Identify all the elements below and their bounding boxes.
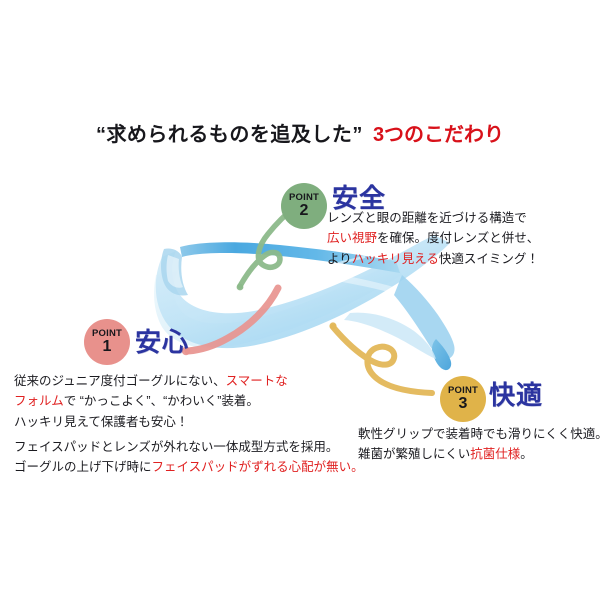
point-badge-2-number: 2 — [300, 203, 309, 219]
infographic-canvas: “求められるものを追及した”3つのこだわり — [0, 0, 600, 600]
point-badge-2-word: POINT — [289, 193, 319, 203]
title-accent-text: 3つのこだわり — [373, 124, 504, 146]
line-highlight: フェイスパッドがずれる心配が無い。 — [152, 460, 364, 474]
point-badge-1: POINT 1 — [84, 319, 130, 365]
point-body-1a: 従来のジュニア度付ゴーグルにない、スマートな フォルムで “かっこよく”、“かわ… — [14, 371, 288, 432]
point-badge-1-number: 1 — [103, 339, 112, 355]
title-quoted-text: “求められるものを追及した” — [96, 124, 363, 146]
point-badge-1-word: POINT — [92, 329, 122, 339]
page-title: “求められるものを追及した”3つのこだわり — [0, 118, 600, 147]
line: フェイスパッドとレンズが外れない一体成型方式を採用。 — [14, 440, 338, 454]
line: より — [327, 252, 352, 266]
line: 従来のジュニア度付ゴーグルにない、 — [14, 374, 226, 388]
line-highlight: 抗菌仕様 — [470, 447, 520, 461]
point-body-3: 軟性グリップで装着時でも滑りにくく快適。 雑菌が繁殖しにくい抗菌仕様。 — [358, 424, 600, 465]
point-badge-3-word: POINT — [448, 386, 478, 396]
line: を確保。度付レンズと併せ、 — [377, 231, 539, 245]
line: ハッキリ見えて保護者も安心！ — [14, 415, 188, 429]
line: ゴーグルの上げ下げ時に — [14, 460, 152, 474]
point-body-1b: フェイスパッドとレンズが外れない一体成型方式を採用。 ゴーグルの上げ下げ時にフェ… — [14, 437, 364, 478]
line-highlight: フォルム — [14, 394, 64, 408]
point-heading-3: 快適 — [489, 375, 543, 412]
line-highlight: ハッキリ見える — [352, 252, 439, 266]
line-highlight: スマートな — [226, 374, 288, 388]
line: レンズと眼の距離を近づける構造で — [327, 211, 527, 225]
point-heading-1: 安心 — [135, 322, 189, 359]
point-body-2: レンズと眼の距離を近づける構造で 広い視野を確保。度付レンズと併せ、 よりハッキ… — [327, 208, 539, 269]
point-badge-3-number: 3 — [459, 396, 468, 412]
line: で “かっこよく”、“かわいく”装着。 — [64, 394, 259, 408]
line: 。 — [520, 447, 533, 461]
line: 軟性グリップで装着時でも滑りにくく快適。 — [358, 427, 600, 441]
line-highlight: 広い視野 — [327, 231, 377, 245]
line: 快適スイミング！ — [439, 252, 539, 266]
point-badge-2: POINT 2 — [281, 183, 327, 229]
line: 雑菌が繁殖しにくい — [358, 447, 470, 461]
point-badge-3: POINT 3 — [440, 376, 486, 422]
